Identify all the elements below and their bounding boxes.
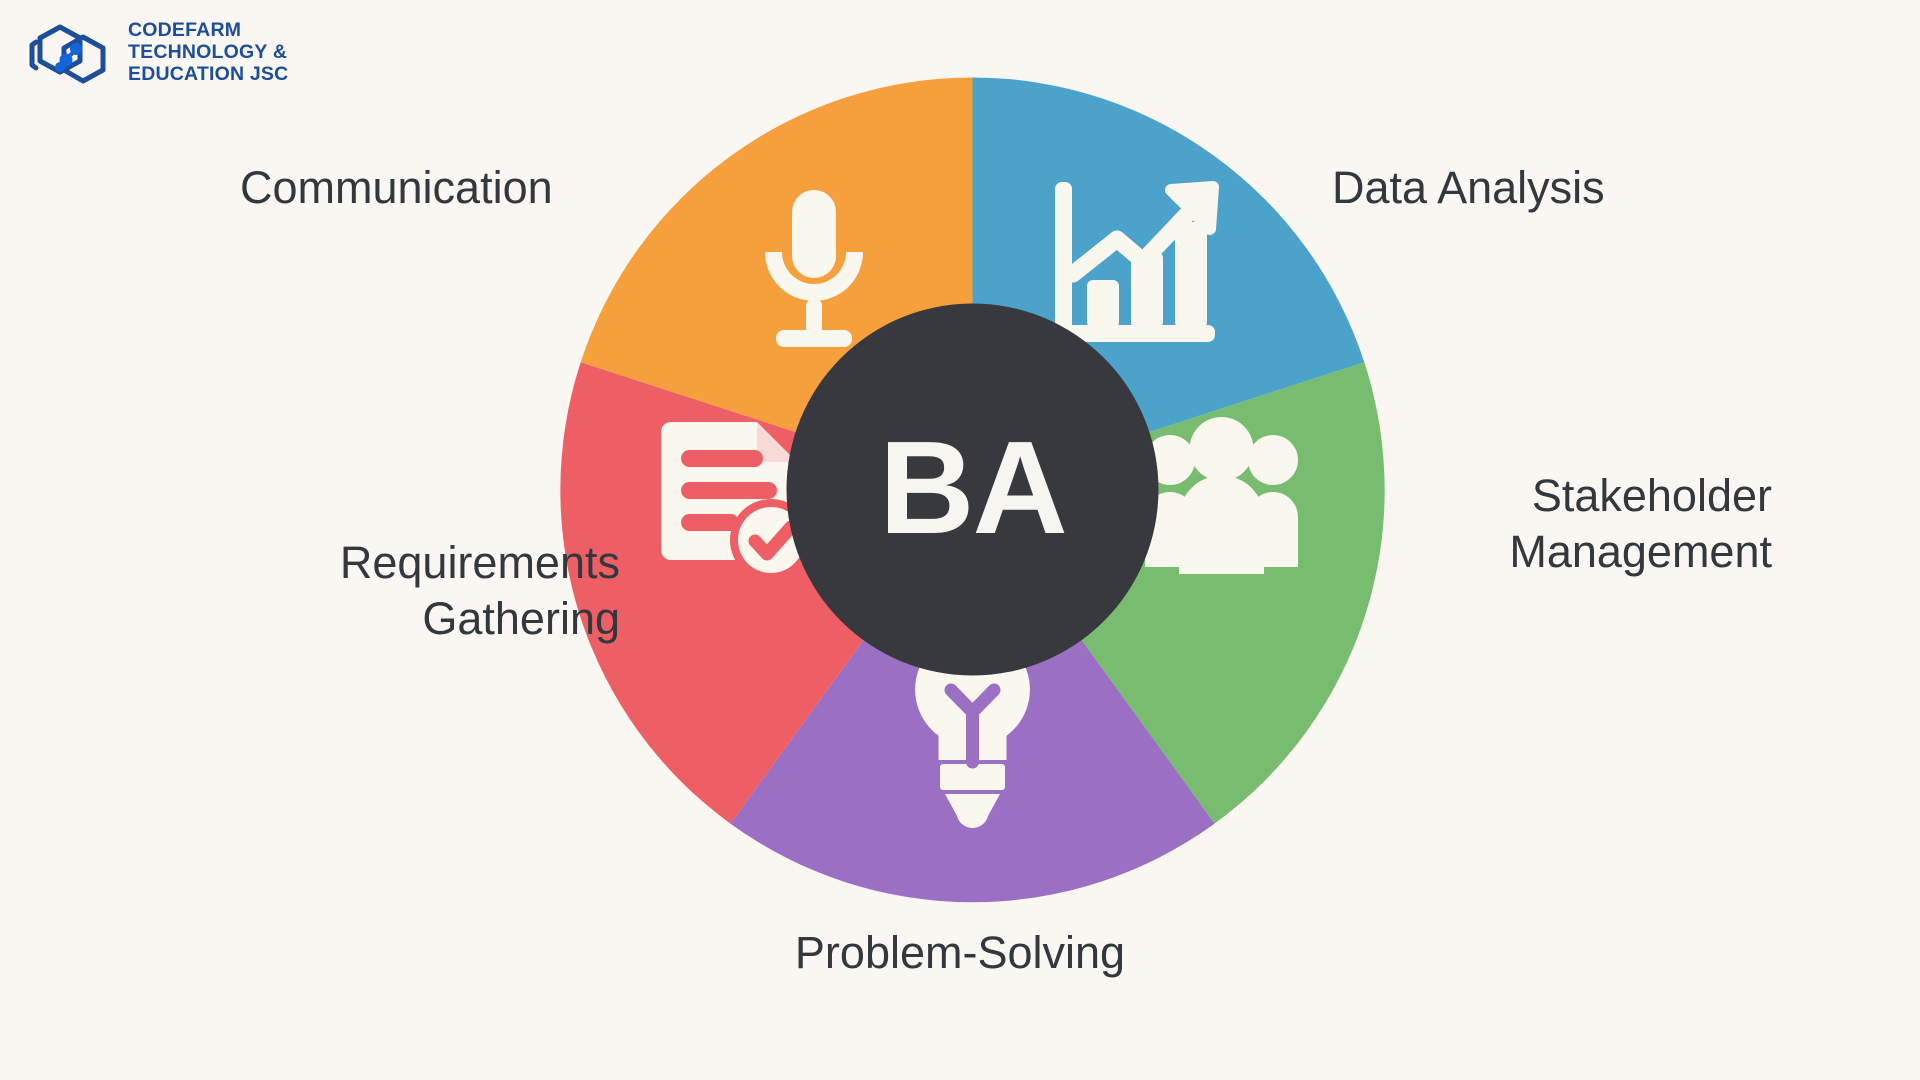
people-group-icon xyxy=(1145,417,1298,574)
center-hub-circle[interactable] xyxy=(787,304,1159,676)
brand-logo[interactable]: CODEFARM TECHNOLOGY & EDUCATION JSC xyxy=(26,12,288,94)
wheel-svg xyxy=(555,72,1390,907)
label-requirements-gathering: Requirements Gathering xyxy=(340,535,620,648)
codefarm-hexagon-logo-icon xyxy=(26,12,114,94)
brand-line-2: TECHNOLOGY & xyxy=(128,42,288,64)
label-data-analysis: Data Analysis xyxy=(1332,160,1605,216)
brand-logo-text: CODEFARM TECHNOLOGY & EDUCATION JSC xyxy=(128,20,288,85)
brand-line-3: EDUCATION JSC xyxy=(128,64,288,86)
label-problem-solving: Problem-Solving xyxy=(0,925,1920,981)
ba-skills-wheel: BA xyxy=(555,72,1390,907)
label-communication: Communication xyxy=(240,160,553,216)
brand-line-1: CODEFARM xyxy=(128,20,288,42)
label-stakeholder-management: Stakeholder Management xyxy=(1509,468,1772,581)
